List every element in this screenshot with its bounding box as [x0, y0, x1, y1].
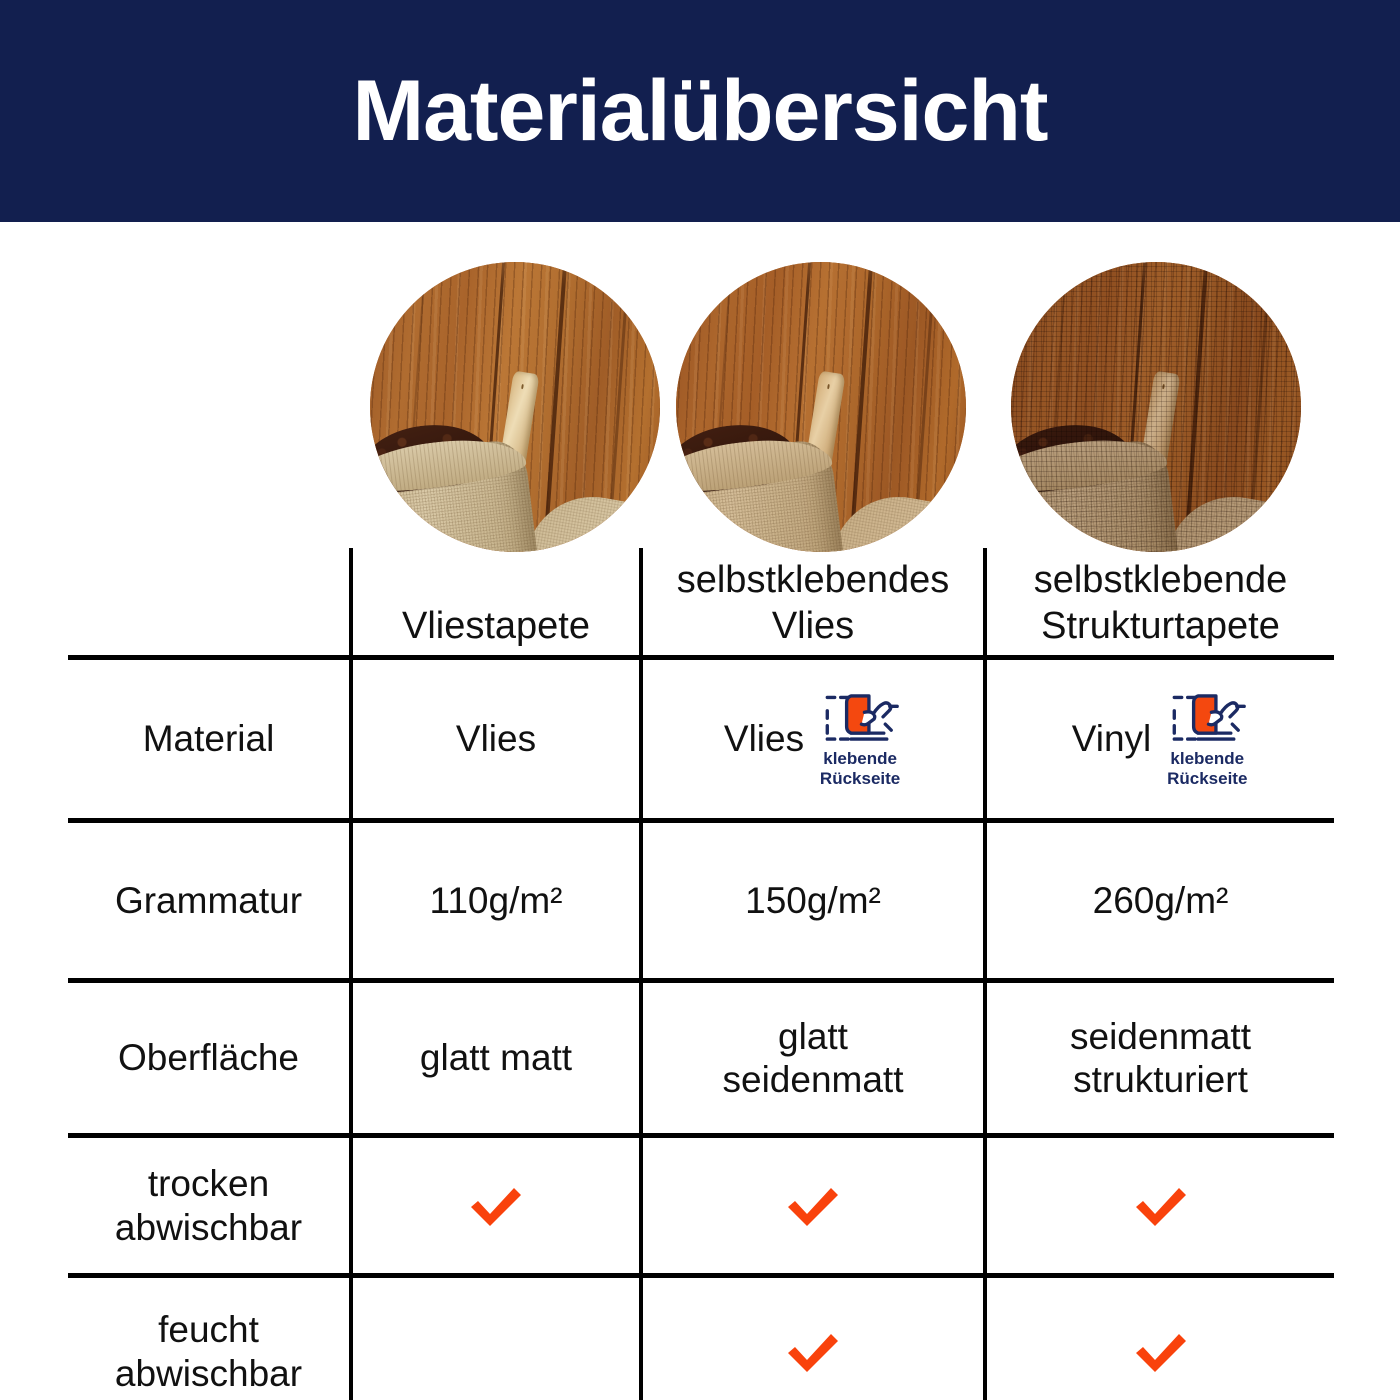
- checkmark-icon: [465, 1180, 527, 1232]
- product-image-selbstklebendes-vlies: [676, 262, 966, 552]
- cell-feucht-vliestapete: [351, 1276, 641, 1400]
- cell-oberflaeche-selbstklebendes-vlies: glatt seidenmatt: [641, 981, 985, 1136]
- adhesive-backing-icon: [1165, 690, 1249, 748]
- product-image-vliestapete: [370, 262, 660, 552]
- checkmark-icon: [1130, 1180, 1192, 1232]
- table-row: Grammatur 110g/m² 150g/m² 260g/m²: [68, 821, 1334, 981]
- cell-oberflaeche-vliestapete: glatt matt: [351, 981, 641, 1136]
- cell-grammatur-vliestapete: 110g/m²: [351, 821, 641, 981]
- page-title: Materialübersicht: [352, 68, 1047, 154]
- header-corner-cell: [68, 548, 351, 658]
- cell-trocken-selbstklebende-strukturtapete: [985, 1136, 1334, 1276]
- badge-label-line1: klebende: [1170, 750, 1244, 769]
- cell-feucht-selbstklebendes-vlies: [641, 1276, 985, 1400]
- adhesive-backing-badge: klebende Rückseite: [1165, 690, 1249, 789]
- table-row: Material Vlies Vlies: [68, 658, 1334, 821]
- adhesive-backing-icon: [818, 690, 902, 748]
- table-header-row: Vliestapete selbstklebendes Vlies selbst…: [68, 548, 1334, 658]
- checkmark-icon: [1130, 1326, 1192, 1378]
- material-comparison-table-wrap: Vliestapete selbstklebendes Vlies selbst…: [68, 548, 1334, 1400]
- cell-feucht-selbstklebende-strukturtapete: [985, 1276, 1334, 1400]
- column-header-vliestapete: Vliestapete: [351, 548, 641, 658]
- cell-trocken-vliestapete: [351, 1136, 641, 1276]
- column-header-selbstklebendes-vlies: selbstklebendes Vlies: [641, 548, 985, 658]
- row-label-trocken-abwischbar: trocken abwischbar: [68, 1136, 351, 1276]
- material-overview-page: Materialübersicht: [0, 0, 1400, 1400]
- table-row: Oberfläche glatt matt glatt seidenmatt s…: [68, 981, 1334, 1136]
- cell-value: Vlies: [456, 717, 536, 761]
- cell-material-vliestapete: Vlies: [351, 658, 641, 821]
- cell-grammatur-selbstklebende-strukturtapete: 260g/m²: [985, 821, 1334, 981]
- thumbnail-slot-vliestapete: [370, 262, 660, 552]
- row-label-feucht-abwischbar: feucht abwischbar: [68, 1276, 351, 1400]
- table-row: feucht abwischbar: [68, 1276, 1334, 1400]
- row-label-grammatur: Grammatur: [68, 821, 351, 981]
- badge-label-line2: Rückseite: [820, 770, 900, 789]
- checkmark-icon: [782, 1326, 844, 1378]
- table-row: trocken abwischbar: [68, 1136, 1334, 1276]
- badge-label-line1: klebende: [823, 750, 897, 769]
- badge-label-line2: Rückseite: [1167, 770, 1247, 789]
- row-label-oberflaeche: Oberfläche: [68, 981, 351, 1136]
- cell-grammatur-selbstklebendes-vlies: 150g/m²: [641, 821, 985, 981]
- cell-oberflaeche-selbstklebende-strukturtapete: seidenmatt strukturiert: [985, 981, 1334, 1136]
- product-image-selbstklebende-strukturtapete: [1011, 262, 1301, 552]
- cell-material-selbstklebende-strukturtapete: Vinyl: [985, 658, 1334, 821]
- surface-tint: [676, 262, 966, 552]
- thumbnail-slot-selbstklebende-strukturtapete: [1011, 262, 1301, 552]
- cell-value: Vinyl: [1072, 717, 1152, 761]
- column-header-selbstklebende-strukturtapete: selbstklebende Strukturtapete: [985, 548, 1334, 658]
- cell-trocken-selbstklebendes-vlies: [641, 1136, 985, 1276]
- checkmark-icon: [782, 1180, 844, 1232]
- thumbnail-row: [351, 262, 1333, 552]
- structure-texture-overlay: [1011, 262, 1301, 552]
- thumbnail-slot-selbstklebendes-vlies: [676, 262, 966, 552]
- cell-material-selbstklebendes-vlies: Vlies: [641, 658, 985, 821]
- cell-value: Vlies: [724, 717, 804, 761]
- row-label-material: Material: [68, 658, 351, 821]
- header-band: Materialübersicht: [0, 0, 1400, 222]
- material-comparison-table: Vliestapete selbstklebendes Vlies selbst…: [68, 548, 1334, 1400]
- burlap-sack: [370, 437, 541, 552]
- adhesive-backing-badge: klebende Rückseite: [818, 690, 902, 789]
